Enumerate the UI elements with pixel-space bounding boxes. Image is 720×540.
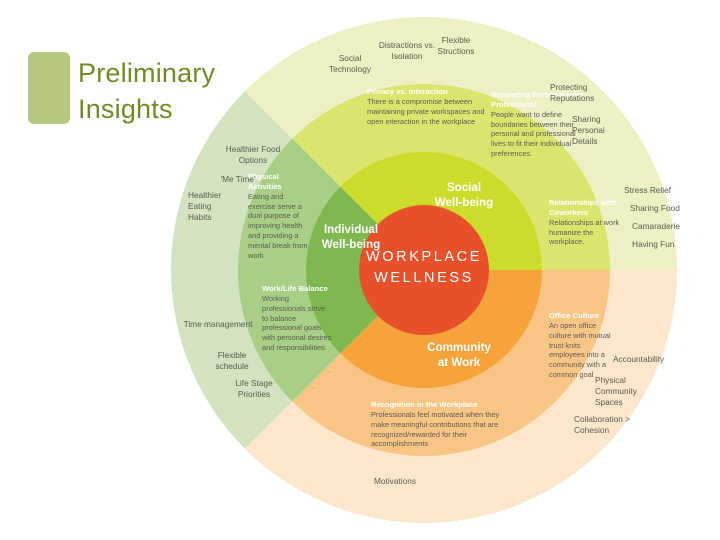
keyword-flexible-schedule: Flexible schedule xyxy=(203,350,261,372)
keyword-life-stage-priorities: Life Stage Priorities xyxy=(222,378,286,400)
insight-privacy-vs-interaction-heading: Privacy vs. Interaction xyxy=(367,87,492,97)
insight-physical-activities: Physical Activities Eating and exercise … xyxy=(248,172,308,261)
keyword-motivations: Motivations xyxy=(374,476,444,487)
keyword-accountability: Accountability xyxy=(613,354,693,365)
keyword-protecting-reputations: Protecting Reputations xyxy=(550,82,616,104)
sector-title-community-line-2: at Work xyxy=(404,355,514,370)
insight-privacy-vs-interaction: Privacy vs. Interaction There is a compr… xyxy=(367,87,492,126)
keyword-collaboration-cohesion: Collaboration > Cohesion xyxy=(574,414,638,436)
insight-office-culture-heading: Office Culture xyxy=(549,311,617,321)
insight-recognition-in-the-workplace: Recognition in the Workplace Professiona… xyxy=(371,400,516,449)
insight-recognition-in-the-workplace-body: Professionals feel motivated when they m… xyxy=(371,410,499,449)
insight-work-life-balance-heading: Work/Life Balance xyxy=(262,284,332,294)
keyword-flexible-structions: Flexible Structions xyxy=(425,35,487,57)
sector-title-social: Social Well-being xyxy=(414,180,514,210)
workplace-wellness-wheel: WORKPLACE WELLNESS Individual Well-being… xyxy=(171,17,677,523)
sector-title-individual-line-1: Individual xyxy=(301,222,401,237)
core-label-line-2: WELLNESS xyxy=(344,268,504,289)
insight-work-life-balance: Work/Life Balance Working professionals … xyxy=(262,284,332,353)
keyword-having-fun: Having Fun xyxy=(632,239,692,250)
insight-physical-activities-body: Eating and exercise serve a dual purpose… xyxy=(248,192,308,260)
insight-relationships-with-coworkers-heading: Relationships with Coworkers xyxy=(549,198,621,218)
keyword-healthier-food-options: Healthier Food Options xyxy=(213,144,293,166)
core-label: WORKPLACE WELLNESS xyxy=(344,247,504,289)
sector-title-individual-line-2: Well-being xyxy=(301,237,401,252)
insight-office-culture: Office Culture An open office culture wi… xyxy=(549,311,617,380)
keyword-me-time: 'Me Time' xyxy=(208,174,268,185)
keyword-sharing-food: Sharing Food xyxy=(630,203,692,214)
keyword-camaraderie: Camaraderie xyxy=(632,221,696,232)
keyword-sharing-personal-details: Sharing Personal Details xyxy=(572,114,624,147)
keyword-stress-relief: Stress Relief xyxy=(624,185,686,196)
insight-relationships-with-coworkers: Relationships with Coworkers Relationshi… xyxy=(549,198,621,247)
insight-relationships-with-coworkers-body: Relationships at work humanize the workp… xyxy=(549,218,619,247)
sector-title-individual: Individual Well-being xyxy=(301,222,401,252)
keyword-healthier-eating-habits: Healthier Eating Habits xyxy=(188,190,236,223)
sector-title-social-line-2: Well-being xyxy=(414,195,514,210)
insight-separating-personal-professional-body: People want to define boundaries between… xyxy=(491,110,576,158)
sector-title-community-line-1: Community xyxy=(404,340,514,355)
sector-title-community: Community at Work xyxy=(404,340,514,370)
insight-office-culture-body: An open office culture with mutual trust… xyxy=(549,321,611,379)
insight-recognition-in-the-workplace-heading: Recognition in the Workplace xyxy=(371,400,516,410)
insight-work-life-balance-body: Working professionals strive to balance … xyxy=(262,294,331,352)
keyword-time-management: Time management xyxy=(183,319,253,330)
keyword-physical-community-spaces: Physical Community Spaces xyxy=(595,375,651,408)
sector-title-social-line-1: Social xyxy=(414,180,514,195)
title-accent-swatch xyxy=(28,52,70,124)
insight-privacy-vs-interaction-body: There is a compromise between maintainin… xyxy=(367,97,485,126)
